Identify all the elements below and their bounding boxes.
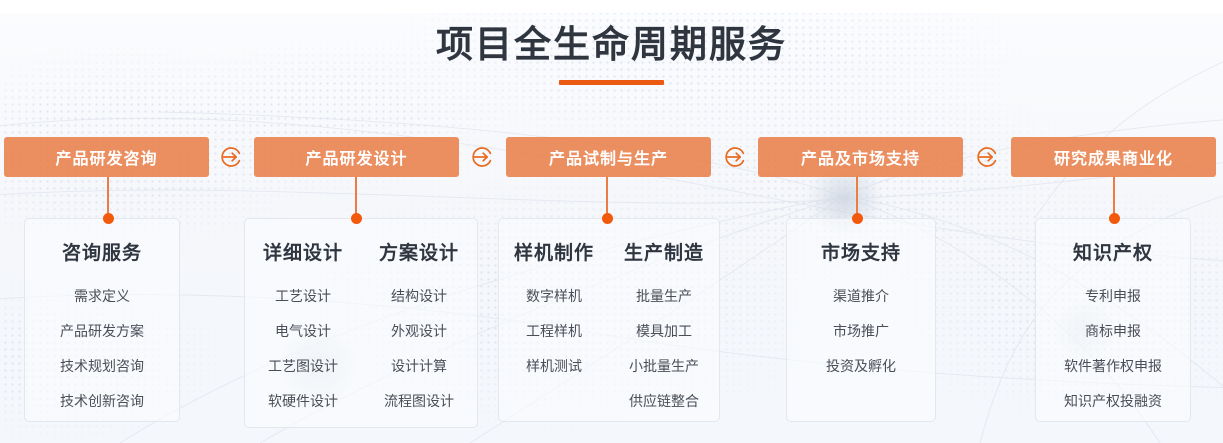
service-item[interactable]: 数字样机 (526, 287, 582, 305)
service-item[interactable]: 软件著作权申报 (1064, 357, 1162, 375)
service-card-5[interactable]: 知识产权专利申报商标申报软件著作权申报知识产权投融资 (1035, 218, 1191, 422)
stage-banner-3[interactable]: 产品试制与生产 (506, 137, 711, 177)
title-underline (559, 80, 664, 85)
page-title-block: 项目全生命周期服务 (0, 22, 1223, 85)
service-column-heading: 生产制造 (624, 241, 704, 267)
service-item[interactable]: 电气设计 (275, 322, 331, 340)
connector-line-3 (606, 177, 608, 218)
connector-line-1 (107, 177, 109, 218)
service-column-heading: 咨询服务 (62, 241, 142, 267)
service-item[interactable]: 工程样机 (526, 322, 582, 340)
page-title: 项目全生命周期服务 (0, 22, 1223, 68)
top-white-strip (0, 0, 1223, 13)
service-item[interactable]: 批量生产 (636, 287, 692, 305)
service-item[interactable]: 渠道推介 (833, 287, 889, 305)
service-column-heading: 样机制作 (514, 241, 594, 267)
stage-banner-5[interactable]: 研究成果商业化 (1011, 137, 1216, 177)
connector-dot-4 (852, 213, 863, 224)
service-item[interactable]: 流程图设计 (384, 392, 454, 410)
arrow-right-circle-icon (975, 145, 999, 169)
service-item[interactable]: 结构设计 (391, 287, 447, 305)
service-item[interactable]: 知识产权投融资 (1064, 392, 1162, 410)
service-item[interactable]: 商标申报 (1085, 322, 1141, 340)
service-item[interactable]: 供应链整合 (629, 392, 699, 410)
service-column: 市场支持渠道推介市场推广投资及孵化 (787, 241, 935, 421)
service-item[interactable]: 设计计算 (391, 357, 447, 375)
service-item[interactable]: 技术创新咨询 (60, 392, 144, 410)
service-item[interactable]: 需求定义 (74, 287, 130, 305)
connector-dot-2 (351, 213, 362, 224)
arrow-right-circle-icon (219, 145, 243, 169)
stage-banner-row: 产品研发咨询产品研发设计产品试制与生产产品及市场支持研究成果商业化 (0, 137, 1223, 177)
service-item[interactable]: 投资及孵化 (826, 357, 896, 375)
lifecycle-service-infographic: 项目全生命周期服务 产品研发咨询产品研发设计产品试制与生产产品及市场支持研究成果… (0, 0, 1223, 443)
service-column: 咨询服务需求定义产品研发方案技术规划咨询技术创新咨询 (25, 241, 179, 421)
service-item[interactable]: 产品研发方案 (60, 322, 144, 340)
service-column: 知识产权专利申报商标申报软件著作权申报知识产权投融资 (1036, 241, 1190, 421)
service-item[interactable]: 专利申报 (1085, 287, 1141, 305)
connector-dot-1 (103, 213, 114, 224)
arrow-right-circle-icon (723, 145, 747, 169)
service-column: 方案设计结构设计外观设计设计计算流程图设计 (361, 241, 477, 427)
service-column: 样机制作数字样机工程样机样机测试 (499, 241, 609, 421)
service-item[interactable]: 小批量生产 (629, 357, 699, 375)
service-item[interactable]: 工艺设计 (275, 287, 331, 305)
service-column: 生产制造批量生产模具加工小批量生产供应链整合 (609, 241, 719, 421)
service-item[interactable]: 外观设计 (391, 322, 447, 340)
service-item[interactable]: 工艺图设计 (268, 357, 338, 375)
service-card-3[interactable]: 样机制作数字样机工程样机样机测试生产制造批量生产模具加工小批量生产供应链整合 (498, 218, 720, 422)
arrow-right-circle-icon (470, 145, 494, 169)
service-column-heading: 市场支持 (821, 241, 901, 267)
service-card-4[interactable]: 市场支持渠道推介市场推广投资及孵化 (786, 218, 936, 422)
connector-line-5 (1113, 177, 1115, 218)
service-item[interactable]: 软硬件设计 (268, 392, 338, 410)
connector-dot-3 (602, 213, 613, 224)
service-item[interactable]: 样机测试 (526, 357, 582, 375)
service-column-heading: 方案设计 (379, 241, 459, 267)
connector-dot-5 (1109, 213, 1120, 224)
service-card-2[interactable]: 详细设计工艺设计电气设计工艺图设计软硬件设计方案设计结构设计外观设计设计计算流程… (244, 218, 478, 428)
stage-banner-2[interactable]: 产品研发设计 (254, 137, 459, 177)
connector-line-2 (355, 177, 357, 218)
service-card-1[interactable]: 咨询服务需求定义产品研发方案技术规划咨询技术创新咨询 (24, 218, 180, 422)
service-column-heading: 详细设计 (263, 241, 343, 267)
stage-banner-4[interactable]: 产品及市场支持 (758, 137, 963, 177)
service-item[interactable]: 市场推广 (833, 322, 889, 340)
service-column: 详细设计工艺设计电气设计工艺图设计软硬件设计 (245, 241, 361, 427)
stage-banner-1[interactable]: 产品研发咨询 (4, 137, 209, 177)
connector-line-4 (856, 177, 858, 218)
service-column-heading: 知识产权 (1073, 241, 1153, 267)
service-item[interactable]: 模具加工 (636, 322, 692, 340)
service-item[interactable]: 技术规划咨询 (60, 357, 144, 375)
